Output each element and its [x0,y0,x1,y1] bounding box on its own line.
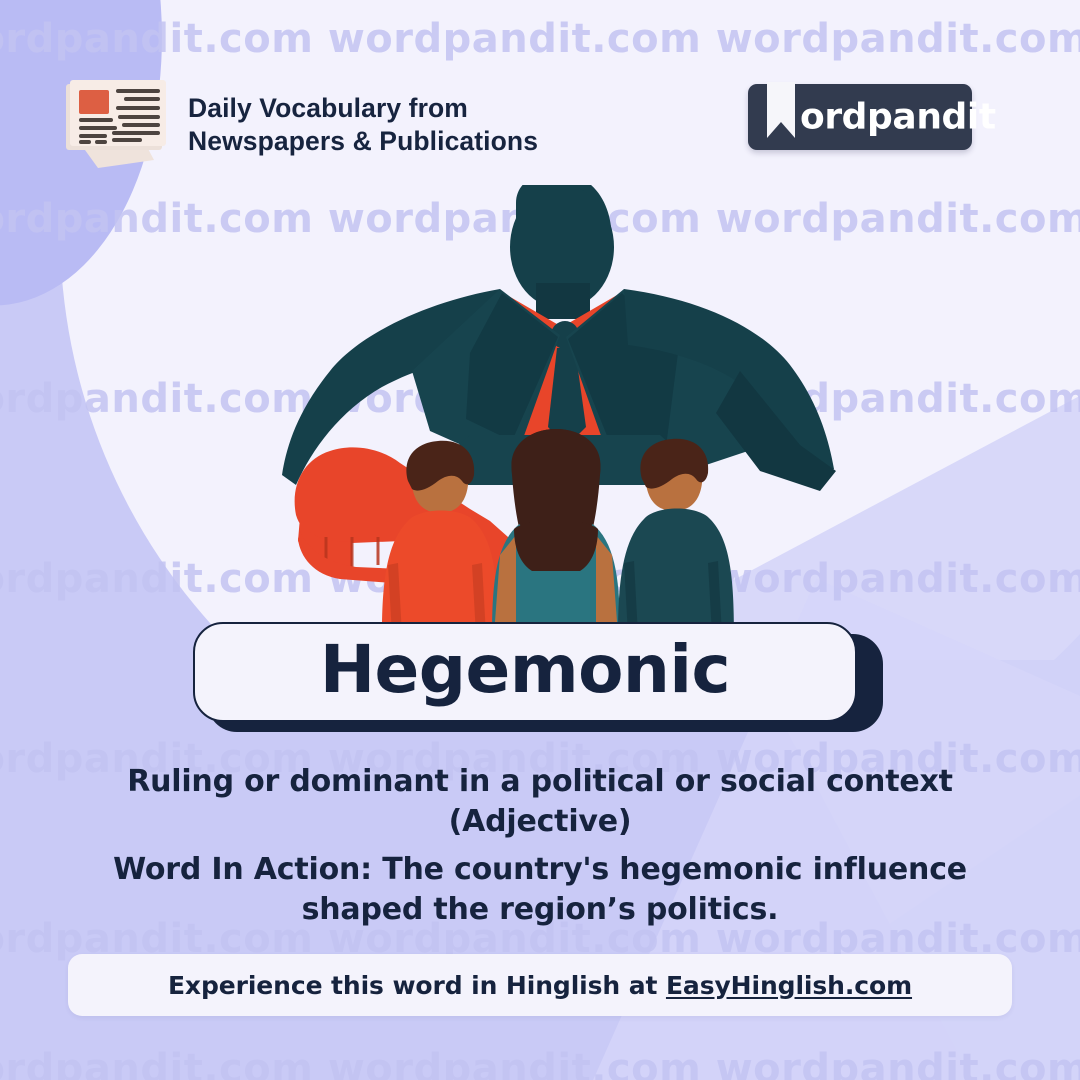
logo-text: ordpandit [800,97,996,138]
wordpandit-logo[interactable]: ordpandit [748,84,972,150]
usage-line-2: shaped the region’s politics. [60,890,1020,930]
word-definition: Ruling or dominant in a political or soc… [60,762,1020,842]
part-of-speech: (Adjective) [60,802,1020,842]
vocabulary-word: Hegemonic [320,637,730,707]
word-card: Hegemonic [193,622,857,722]
header: Daily Vocabulary from Newspapers & Publi… [0,0,1080,175]
word-in-action: Word In Action: The country's hegemonic … [60,850,1020,930]
illustration-authority-figure [0,185,1080,635]
page-title: Daily Vocabulary from Newspapers & Publi… [188,92,538,158]
hinglish-cta-banner[interactable]: Experience this word in Hinglish at Easy… [68,954,1012,1016]
bookmark-icon [764,80,798,142]
header-title-line2: Newspapers & Publications [188,125,538,158]
definition-text: Ruling or dominant in a political or soc… [127,764,953,799]
cta-prefix: Experience this word in Hinglish at [168,971,666,1000]
easyhinglish-link[interactable]: EasyHinglish.com [666,971,912,1000]
word-card-wrapper: Hegemonic [193,622,883,732]
cta-text: Experience this word in Hinglish at Easy… [168,971,912,1000]
usage-line-1: Word In Action: The country's hegemonic … [113,852,967,887]
poster-canvas: wordpandit.com wordpandit.com wordpandit… [0,0,1080,1080]
newspaper-icon [58,72,170,168]
header-title-line1: Daily Vocabulary from [188,93,468,123]
